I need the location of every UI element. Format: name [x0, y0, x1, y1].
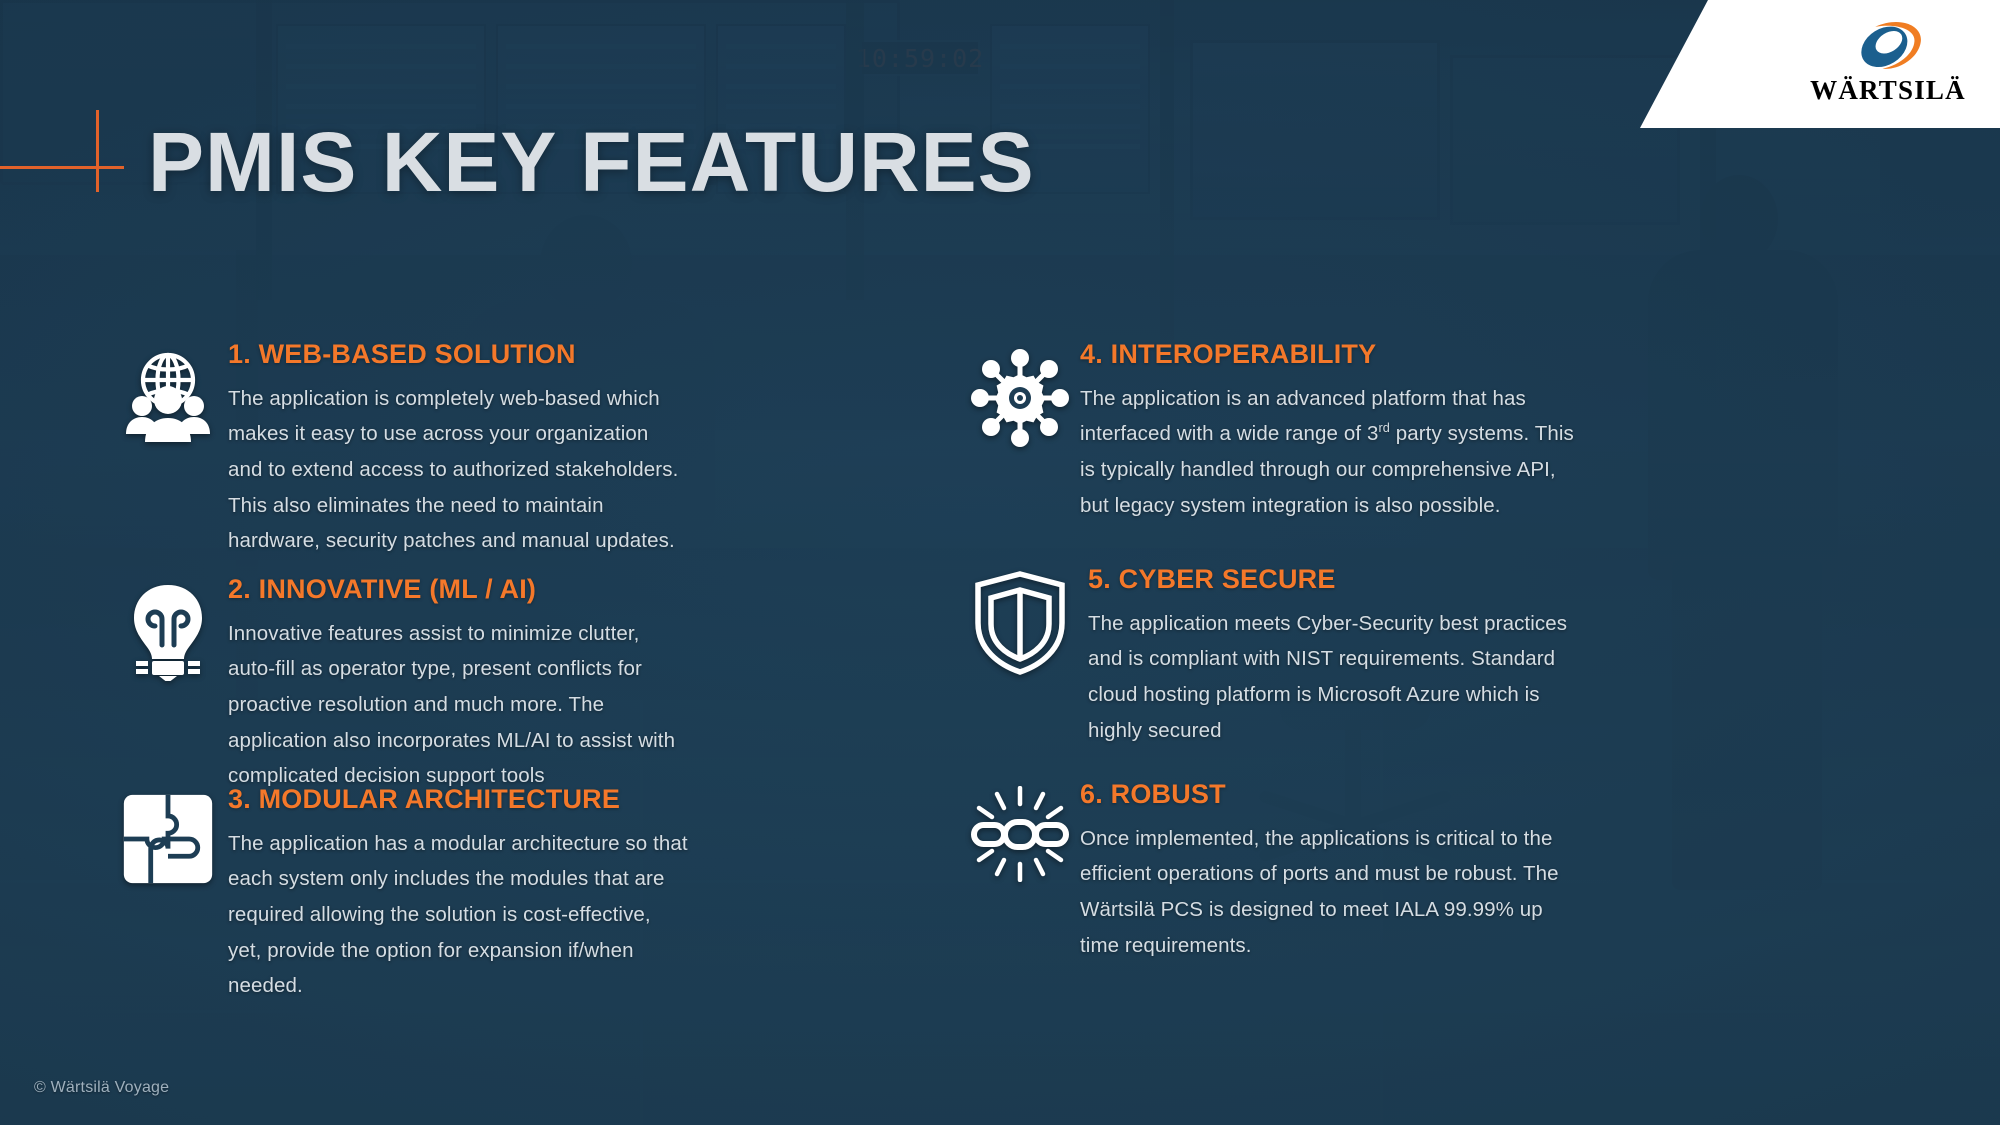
puzzle-icon	[108, 785, 228, 1004]
copyright-footer: © Wärtsilä Voyage	[34, 1079, 169, 1097]
wartsila-logo-text: WÄRTSILÄ	[1810, 77, 1966, 104]
lightbulb-icon	[108, 575, 228, 794]
feature-text: Once implemented, the applications is cr…	[1080, 821, 1580, 964]
feature-robust: 6. ROBUST Once implemented, the applicat…	[960, 780, 1580, 963]
feature-text: The application has a modular architectu…	[228, 826, 688, 1004]
network-gear-icon	[960, 340, 1080, 523]
feature-title: 5. CYBER SECURE	[1080, 565, 1580, 595]
feature-text: Innovative features assist to minimize c…	[228, 616, 688, 794]
feature-modular-architecture: 3. MODULAR ARCHITECTURE The application …	[108, 785, 688, 1004]
globe-people-icon	[108, 340, 228, 559]
feature-title: 2. INNOVATIVE (ML / AI)	[228, 575, 688, 605]
ordinal-suffix: rd	[1378, 421, 1390, 436]
feature-innovative-ml-ai: 2. INNOVATIVE (ML / AI) Innovative featu…	[108, 575, 688, 794]
feature-text: The application is completely web-based …	[228, 381, 688, 559]
feature-text-interoperability: The application is an advanced platform …	[1080, 381, 1580, 524]
slide-root: 10:59:02	[0, 0, 2000, 1125]
features-grid: 1. WEB-BASED SOLUTION The application is…	[0, 0, 2000, 1125]
feature-title: 1. WEB-BASED SOLUTION	[228, 340, 688, 370]
wartsila-logo: WÄRTSILÄ	[1798, 14, 1978, 118]
chain-burst-icon	[960, 780, 1080, 963]
wartsila-swirl-icon	[1842, 14, 1934, 76]
shield-icon	[960, 565, 1080, 748]
feature-web-based-solution: 1. WEB-BASED SOLUTION The application is…	[108, 340, 688, 559]
feature-text: The application meets Cyber-Security bes…	[1080, 606, 1580, 749]
feature-cyber-secure: 5. CYBER SECURE The application meets Cy…	[960, 565, 1580, 748]
feature-title: 6. ROBUST	[1080, 780, 1580, 810]
feature-interoperability: 4. INTEROPERABILITY The application is a…	[960, 340, 1580, 523]
feature-title: 4. INTEROPERABILITY	[1080, 340, 1580, 370]
feature-title: 3. MODULAR ARCHITECTURE	[228, 785, 688, 815]
